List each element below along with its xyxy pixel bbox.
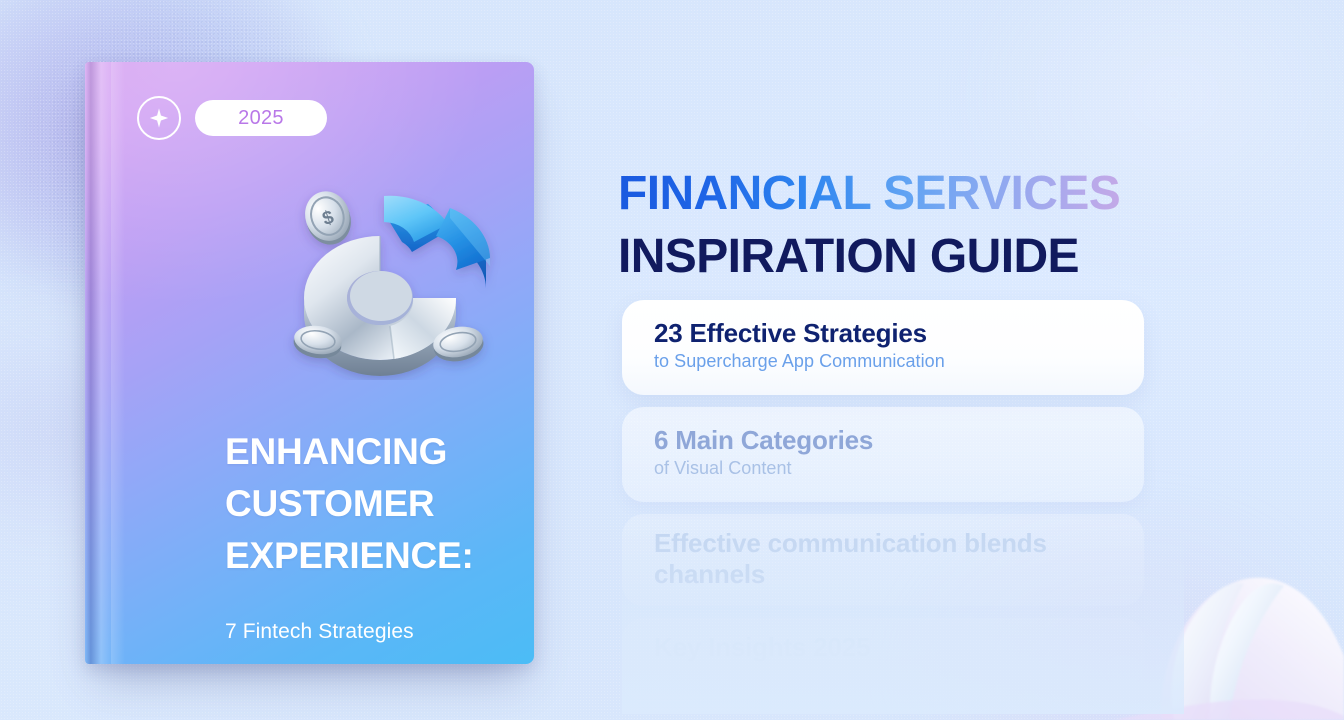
donut-chart-3d-icon: $: [282, 180, 514, 380]
book-header: 2025: [137, 96, 327, 140]
topic-card-title: Key Insights 2025: [654, 632, 1114, 662]
topic-card[interactable]: Key Insights 2025: [622, 618, 1144, 702]
topic-card-active[interactable]: 23 Effective Strategies to Supercharge A…: [622, 300, 1144, 395]
headline-line-1: FINANCIAL SERVICES: [618, 163, 1178, 225]
sparkle-glyph: [148, 107, 170, 129]
page-title: FINANCIAL SERVICES INSPIRATION GUIDE: [618, 163, 1178, 288]
topic-card-subtitle: to Supercharge App Communication: [654, 351, 1114, 372]
book-title-line-1: ENHANCING: [225, 433, 534, 470]
book-subtitle: 7 Fintech Strategies: [225, 620, 414, 644]
ebook-cover[interactable]: 2025: [85, 62, 534, 664]
topic-card-title: 23 Effective Strategies: [654, 318, 1114, 348]
headline-line-2: INSPIRATION GUIDE: [618, 226, 1178, 288]
book-title-line-3: EXPERIENCE:: [225, 537, 534, 574]
content-panel: FINANCIAL SERVICES INSPIRATION GUIDE 23 …: [618, 0, 1178, 720]
book-title-line-2: CUSTOMER: [225, 485, 534, 522]
sparkle-icon: [137, 96, 181, 140]
year-badge: 2025: [195, 100, 327, 136]
topic-card-title: Effective communication blends channels: [654, 528, 1114, 589]
topic-card-title: 6 Main Categories: [654, 425, 1114, 455]
topic-card-list: 23 Effective Strategies to Supercharge A…: [622, 300, 1144, 714]
topic-card[interactable]: Effective communication blends channels: [622, 514, 1144, 606]
book-spine: [85, 62, 111, 664]
book-title: ENHANCING CUSTOMER EXPERIENCE:: [225, 433, 534, 574]
topic-card[interactable]: 6 Main Categories of Visual Content: [622, 407, 1144, 502]
book-spine-highlight: [111, 62, 125, 664]
topic-card-subtitle: of Visual Content: [654, 458, 1114, 479]
